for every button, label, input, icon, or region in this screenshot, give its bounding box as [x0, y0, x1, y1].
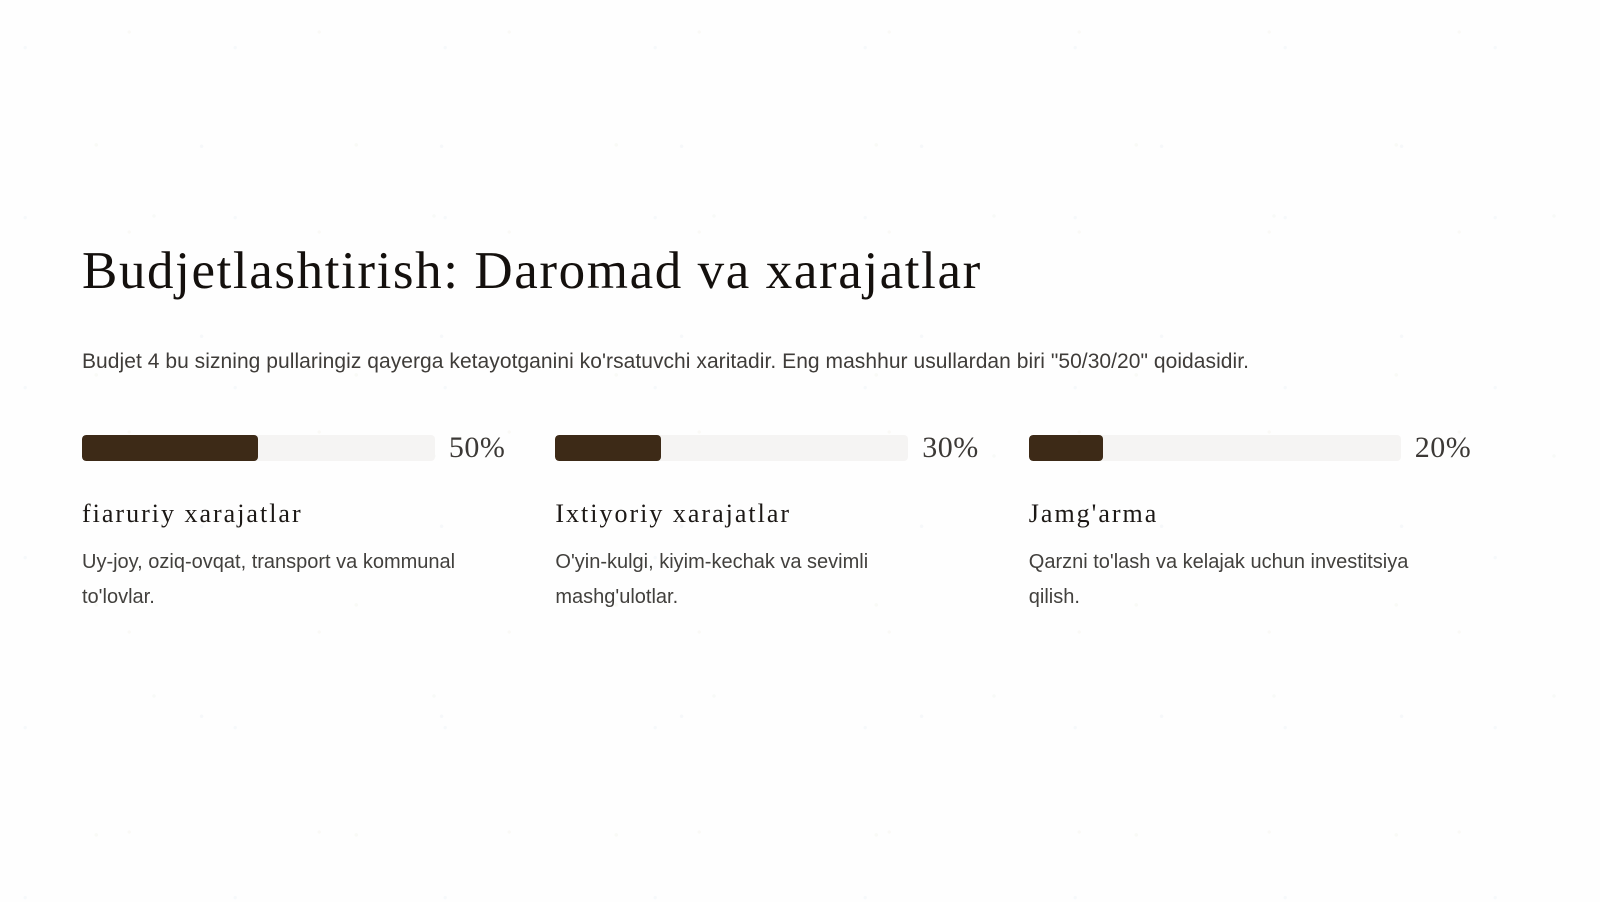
progress-percent-label: 50%: [449, 433, 506, 463]
budget-card-title: Ixtiyoriy xarajatlar: [555, 499, 978, 529]
progress-row: 50%: [82, 433, 505, 463]
progress-percent-label: 30%: [922, 433, 979, 463]
progress-track: [1029, 435, 1401, 461]
budget-card: 30% Ixtiyoriy xarajatlar O'yin-kulgi, ki…: [555, 433, 1028, 616]
budget-card-title: fiaruriy xarajatlar: [82, 499, 505, 529]
slide-content: Budjetlashtirish: Daromad va xarajatlar …: [82, 243, 1502, 616]
budget-card: 20% Jamg'arma Qarzni to'lash va kelajak …: [1029, 433, 1502, 616]
budget-card-description: O'yin-kulgi, kiyim-kechak va sevimli mas…: [555, 545, 935, 616]
budget-card-title: Jamg'arma: [1029, 499, 1502, 529]
budget-card: 50% fiaruriy xarajatlar Uy-joy, oziq-ovq…: [82, 433, 555, 616]
progress-percent-label: 20%: [1415, 433, 1472, 463]
slide-page: Budjetlashtirish: Daromad va xarajatlar …: [0, 0, 1600, 902]
progress-row: 20%: [1029, 433, 1502, 463]
page-title: Budjetlashtirish: Daromad va xarajatlar: [82, 243, 1502, 300]
progress-track: [555, 435, 908, 461]
budget-breakdown-cards: 50% fiaruriy xarajatlar Uy-joy, oziq-ovq…: [82, 433, 1502, 616]
progress-fill: [82, 435, 258, 461]
progress-track: [82, 435, 435, 461]
progress-row: 30%: [555, 433, 978, 463]
budget-card-description: Qarzni to'lash va kelajak uchun investit…: [1029, 545, 1409, 616]
budget-card-description: Uy-joy, oziq-ovqat, transport va kommuna…: [82, 545, 462, 616]
progress-fill: [1029, 435, 1103, 461]
progress-fill: [555, 435, 661, 461]
intro-paragraph: Budjet 4 bu sizning pullaringiz qayerga …: [82, 344, 1302, 381]
